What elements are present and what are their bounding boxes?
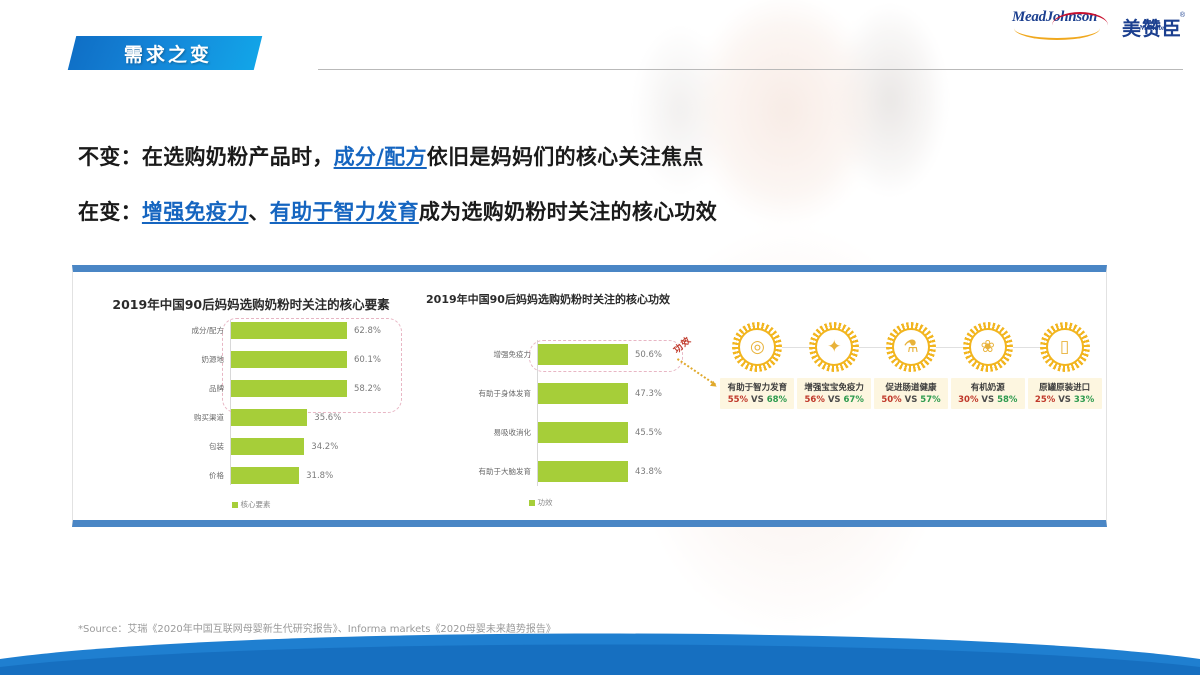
headline-changing: 在变：增强免疫力、有助于智力发育成为选购奶粉时关注的核心功效 [78, 196, 717, 226]
bar-row: 有助于大脑发育43.8% [538, 461, 662, 482]
badge-title: 有机奶源 [952, 381, 1024, 393]
cow-icon: ❀ [963, 322, 1013, 372]
benefit-badge-row: ◎有助于智力发育55% VS 68%✦增强宝宝免疫力56% VS 67%⚗促进肠… [719, 322, 1103, 409]
bar-value-label: 35.6% [314, 413, 341, 423]
logo-trademark-mark: ® [1180, 12, 1185, 19]
badge-stat-before: 55% [728, 395, 748, 405]
bar-value-label: 34.2% [311, 442, 338, 452]
badge-stat-vs: VS [978, 395, 997, 405]
medal-icon: ◎ [732, 322, 782, 372]
bar-row: 奶源地60.1% [231, 351, 381, 368]
badge-title: 有助于智力发育 [721, 381, 793, 393]
benefit-badge[interactable]: ▯原罐原装进口25% VS 33% [1026, 322, 1103, 409]
bar-row: 价格31.8% [231, 467, 381, 484]
bar-category-label: 购买渠道 [194, 412, 231, 423]
medal-icon: ⚗ [886, 322, 936, 372]
head-lightbulb-icon: ◎ [732, 322, 782, 372]
chart-core-factors-title: 2019年中国90后妈妈选购奶粉时关注的核心要素 [81, 294, 421, 313]
badge-card: 有机奶源30% VS 58% [951, 378, 1025, 409]
headline-2-prefix: 在变： [78, 200, 142, 224]
bottom-wave-svg [0, 619, 1200, 675]
bar-fill [231, 351, 347, 368]
bar-category-label: 品牌 [209, 383, 231, 394]
headline-2-separator: 、 [248, 200, 269, 224]
chart-core-benefits: 2019年中国90后妈妈选购奶粉时关注的核心功效 增强免疫力50.6%有助于身体… [403, 278, 693, 526]
medal-icon: ❀ [963, 322, 1013, 372]
chart-core-benefits-title: 2019年中国90后妈妈选购奶粉时关注的核心功效 [418, 292, 678, 309]
legend-swatch-icon [529, 500, 535, 506]
badge-stat-after: 57% [920, 395, 940, 405]
bar-fill [231, 438, 304, 455]
badge-stat-vs: VS [748, 395, 767, 405]
bar-value-label: 43.8% [635, 467, 662, 477]
chart-core-factors-legend: 核心要素 [81, 499, 421, 510]
badge-stat-after: 68% [767, 395, 787, 405]
bar-fill [231, 380, 347, 397]
headline-2-suffix: 成为选购奶粉时关注的核心功效 [419, 200, 717, 224]
bar-category-label: 价格 [209, 470, 231, 481]
bar-row: 品牌58.2% [231, 380, 381, 397]
badge-stats: 55% VS 68% [721, 395, 793, 405]
headline-2-emphasis-1: 增强免疫力 [142, 200, 249, 224]
bar-category-label: 成分/配方 [191, 325, 231, 336]
legend-swatch-icon [232, 502, 238, 508]
bar-fill [538, 344, 628, 365]
badge-card: 增强宝宝免疫力56% VS 67% [797, 378, 871, 409]
bar-fill [231, 322, 347, 339]
badge-stats: 50% VS 57% [875, 395, 947, 405]
logo-swoosh-gold-icon [1014, 26, 1100, 40]
badge-card: 有助于智力发育55% VS 68% [720, 378, 794, 409]
chart-core-factors: 2019年中国90后妈妈选购奶粉时关注的核心要素 成分/配方62.8%奶源地60… [81, 278, 421, 526]
headline-2-emphasis-2: 有助于智力发育 [270, 200, 419, 224]
can-icon: ▯ [1040, 322, 1090, 372]
content-card: 2019年中国90后妈妈选购奶粉时关注的核心要素 成分/配方62.8%奶源地60… [72, 265, 1107, 527]
bar-category-label: 增强免疫力 [494, 349, 539, 360]
bar-row: 增强免疫力50.6% [538, 344, 662, 365]
headline-1-emphasis: 成分/配方 [334, 145, 427, 169]
chart-core-factors-bars: 成分/配方62.8%奶源地60.1%品牌58.2%购买渠道35.6%包装34.2… [231, 322, 381, 496]
bar-value-label: 45.5% [635, 428, 662, 438]
headline-unchanged: 不变：在选购奶粉产品时，成分/配方依旧是妈妈们的核心关注焦点 [78, 141, 704, 171]
benefit-badge[interactable]: ❀有机奶源30% VS 58% [949, 322, 1026, 409]
bar-category-label: 奶源地 [202, 354, 232, 365]
headline-1-suffix: 依旧是妈妈们的核心关注焦点 [427, 145, 704, 169]
bar-fill [538, 422, 628, 443]
bar-value-label: 62.8% [354, 326, 381, 336]
badge-title: 增强宝宝免疫力 [798, 381, 870, 393]
brand-logo: MeadJohnson Nutrition 美赞臣 ® [1012, 10, 1182, 44]
chart-core-benefits-bars: 增强免疫力50.6%有助于身体发育47.3%易吸收消化45.5%有助于大脑发育4… [538, 344, 662, 500]
badge-stats: 30% VS 58% [952, 395, 1024, 405]
badge-stat-vs: VS [825, 395, 844, 405]
badge-stat-before: 25% [1035, 395, 1055, 405]
bar-category-label: 有助于大脑发育 [479, 466, 539, 477]
bar-fill [538, 461, 628, 482]
bar-fill [231, 409, 307, 426]
chart-core-benefits-legend: 功效 [403, 497, 678, 508]
content-card-inner: 2019年中国90后妈妈选购奶粉时关注的核心要素 成分/配方62.8%奶源地60… [73, 272, 1106, 520]
section-banner-label: 需求之变 [124, 40, 212, 67]
badge-card: 原罐原装进口25% VS 33% [1028, 378, 1102, 409]
badge-stats: 25% VS 33% [1029, 395, 1101, 405]
bar-category-label: 有助于身体发育 [479, 388, 539, 399]
badge-title: 原罐原装进口 [1029, 381, 1101, 393]
logo-chinese-name: 美赞臣 [1122, 14, 1182, 41]
bar-category-label: 易吸收消化 [494, 427, 539, 438]
badge-stat-after: 67% [844, 395, 864, 405]
badge-stat-vs: VS [1055, 395, 1074, 405]
badge-title: 促进肠道健康 [875, 381, 947, 393]
legend-label: 核心要素 [241, 499, 271, 510]
medal-icon: ▯ [1040, 322, 1090, 372]
bar-row: 包装34.2% [231, 438, 381, 455]
headline-1-prefix: 不变：在选购奶粉产品时， [78, 145, 334, 169]
bar-fill [538, 383, 628, 404]
bottom-wave-decoration [0, 619, 1200, 675]
medal-icon: ✦ [809, 322, 859, 372]
bar-value-label: 47.3% [635, 389, 662, 399]
badge-stat-after: 33% [1074, 395, 1094, 405]
bar-value-label: 58.2% [354, 384, 381, 394]
benefit-badges-panel: 功效 ◎有助于智力发育55% VS 68%✦增强宝宝免疫力56% VS 67%⚗… [673, 322, 1103, 452]
bar-category-label: 包装 [209, 441, 231, 452]
badge-stat-before: 56% [805, 395, 825, 405]
bar-row: 有助于身体发育47.3% [538, 383, 662, 404]
section-banner: 需求之变 [68, 36, 262, 70]
badge-stat-before: 50% [881, 395, 901, 405]
badge-card: 促进肠道健康50% VS 57% [874, 378, 948, 409]
badge-stat-after: 58% [997, 395, 1017, 405]
header-divider [318, 69, 1183, 70]
bar-row: 成分/配方62.8% [231, 322, 381, 339]
badge-stat-vs: VS [902, 395, 921, 405]
legend-label: 功效 [538, 497, 553, 508]
bar-row: 购买渠道35.6% [231, 409, 381, 426]
flask-icon: ⚗ [886, 322, 936, 372]
badge-stats: 56% VS 67% [798, 395, 870, 405]
bar-value-label: 31.8% [306, 471, 333, 481]
rocket-icon: ✦ [809, 322, 859, 372]
benefit-badge[interactable]: ⚗促进肠道健康50% VS 57% [873, 322, 950, 409]
bar-value-label: 60.1% [354, 355, 381, 365]
bar-row: 易吸收消化45.5% [538, 422, 662, 443]
badge-stat-before: 30% [958, 395, 978, 405]
bar-fill [231, 467, 299, 484]
benefit-badge[interactable]: ✦增强宝宝免疫力56% VS 67% [796, 322, 873, 409]
bar-value-label: 50.6% [635, 350, 662, 360]
benefit-badge[interactable]: ◎有助于智力发育55% VS 68% [719, 322, 796, 409]
